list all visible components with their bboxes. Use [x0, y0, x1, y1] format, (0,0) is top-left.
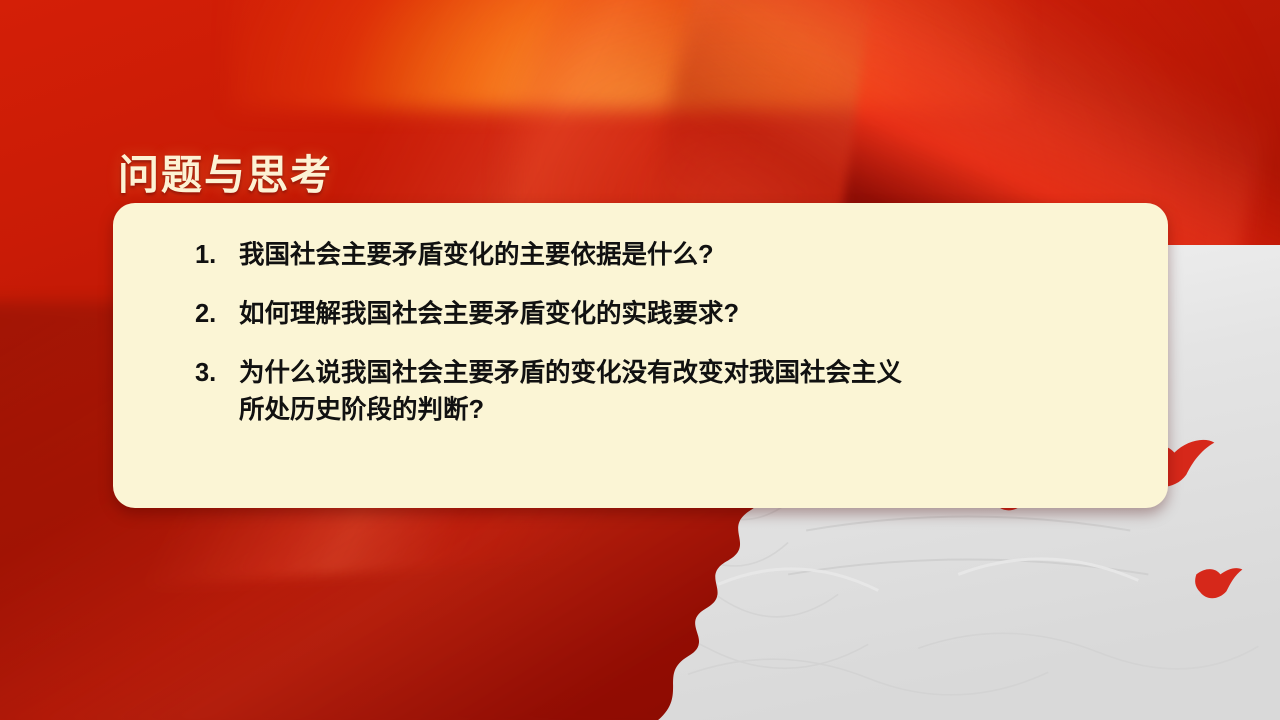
list-item-line: 如何理解我国社会主要矛盾变化的实践要求?: [239, 296, 1128, 332]
list-item-line: 为什么说我国社会主要矛盾的变化没有改变对我国社会主义: [239, 355, 1128, 391]
list-item-text: 为什么说我国社会主要矛盾的变化没有改变对我国社会主义 所处历史阶段的判断?: [239, 355, 1128, 427]
list-item-text: 如何理解我国社会主要矛盾变化的实践要求?: [239, 296, 1128, 332]
question-list: 1. 我国社会主要矛盾变化的主要依据是什么? 2. 如何理解我国社会主要矛盾变化…: [195, 237, 1128, 428]
list-item-text: 我国社会主要矛盾变化的主要依据是什么?: [239, 237, 1128, 273]
slide-canvas: 问题与思考 1. 我国社会主要矛盾变化的主要依据是什么? 2. 如何理解我国社会…: [0, 0, 1280, 720]
list-item: 2. 如何理解我国社会主要矛盾变化的实践要求?: [195, 296, 1128, 332]
list-item-number: 3.: [195, 355, 239, 391]
list-item-number: 2.: [195, 296, 239, 332]
list-item-line: 我国社会主要矛盾变化的主要依据是什么?: [239, 237, 1128, 273]
list-item-number: 1.: [195, 237, 239, 273]
list-item: 1. 我国社会主要矛盾变化的主要依据是什么?: [195, 237, 1128, 273]
question-card: 1. 我国社会主要矛盾变化的主要依据是什么? 2. 如何理解我国社会主要矛盾变化…: [113, 203, 1168, 508]
list-item-line: 所处历史阶段的判断?: [239, 392, 1128, 428]
page-title: 问题与思考: [118, 141, 333, 201]
list-item: 3. 为什么说我国社会主要矛盾的变化没有改变对我国社会主义 所处历史阶段的判断?: [195, 355, 1128, 427]
